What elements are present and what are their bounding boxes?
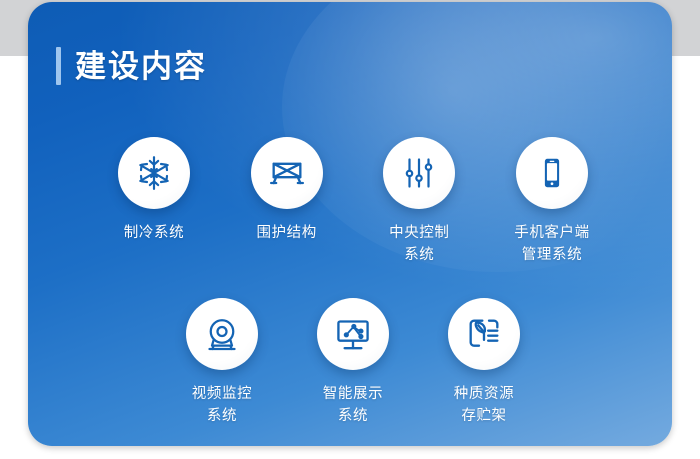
sliders-icon [400,154,438,192]
icon-badge [516,137,588,209]
content-panel: 建设内容 [28,2,672,446]
icon-badge [383,137,455,209]
feature-item-germplasm-storage[interactable]: 种质资源 存贮架 [428,298,540,428]
feature-label: 智能展示 系统 [323,383,383,428]
slide-canvas: 建设内容 [0,0,700,459]
icon-badge [317,298,389,370]
feature-row-1: 制冷系统 围 [98,137,608,267]
snowflake-icon [134,153,174,193]
feature-item-envelope-structure[interactable]: 围护结构 [231,137,343,267]
icon-badge [448,298,520,370]
feature-label: 视频监控 系统 [192,383,252,428]
feature-label: 围护结构 [256,222,316,244]
page-title: 建设内容 [75,51,207,82]
truss-structure-icon [267,153,307,193]
security-camera-icon [202,314,242,354]
feature-item-video-surveillance[interactable]: 视频监控 系统 [166,298,278,428]
icon-badge [251,137,323,209]
icon-badge [118,137,190,209]
panel-title: 建设内容 [56,44,207,88]
feature-item-central-control[interactable]: 中央控制 系统 [363,137,475,267]
monitor-network-icon [333,314,373,354]
title-accent-bar [56,47,61,85]
feature-label: 制冷系统 [124,222,184,244]
feature-item-refrigeration[interactable]: 制冷系统 [98,137,210,267]
icon-badge [186,298,258,370]
seedling-storage-icon [464,314,504,354]
feature-label: 种质资源 存贮架 [454,383,514,428]
feature-label: 手机客户端 管理系统 [514,222,590,267]
smartphone-icon [533,154,571,192]
feature-label: 中央控制 系统 [389,222,449,267]
feature-item-smart-display[interactable]: 智能展示 系统 [297,298,409,428]
feature-item-mobile-client[interactable]: 手机客户端 管理系统 [496,137,608,267]
feature-row-2: 视频监控 系统 [166,298,540,428]
